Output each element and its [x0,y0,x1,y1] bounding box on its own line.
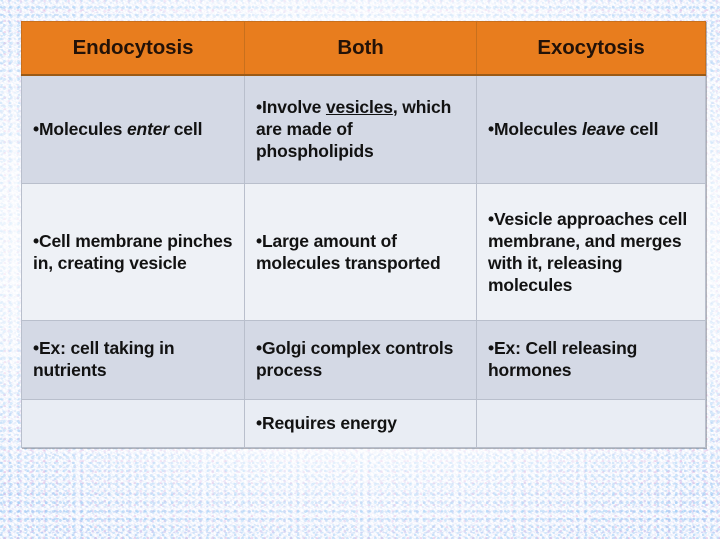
cell-endocytosis-2: •Cell membrane pinches in, creating vesi… [22,183,245,320]
column-header-endocytosis: Endocytosis [22,22,245,76]
cell-text-run: cell [625,119,658,139]
comparison-table-container: Endocytosis Both Exocytosis •Molecules e… [21,21,705,448]
cell-endocytosis-1: •Molecules enter cell [22,75,245,183]
cell-text-run: Requires energy [262,413,397,433]
cell-endocytosis-3: •Ex: cell taking in nutrients [22,321,245,399]
cell-exocytosis-1: •Molecules leave cell [477,75,706,183]
table-row: •Ex: cell taking in nutrients •Golgi com… [22,321,706,399]
cell-text-run: Large amount of molecules transported [256,231,441,273]
cell-endocytosis-4 [22,399,245,448]
table-body: •Molecules enter cell •Involve vesicles,… [22,75,706,448]
cell-text-run: Molecules [39,119,127,139]
cell-text-run: Molecules [494,119,582,139]
cell-text-run: Vesicle approaches cell membrane, and me… [488,209,687,295]
cell-exocytosis-3: •Ex: Cell releasing hormones [477,321,706,399]
cell-text-run: Cell membrane pinches in, creating vesic… [33,231,232,273]
cell-exocytosis-4 [477,399,706,448]
cell-both-1: •Involve vesicles, which are made of pho… [245,75,477,183]
table-row: •Requires energy [22,399,706,448]
table-header: Endocytosis Both Exocytosis [22,22,706,76]
cell-exocytosis-2: •Vesicle approaches cell membrane, and m… [477,183,706,320]
endocytosis-exocytosis-comparison-table: Endocytosis Both Exocytosis •Molecules e… [21,21,706,448]
cell-text-run: cell [169,119,202,139]
column-header-both: Both [245,22,477,76]
table-row: •Cell membrane pinches in, creating vesi… [22,183,706,320]
cell-text-run: enter [127,119,169,139]
cell-text-run: Involve [262,97,326,117]
cell-both-4: •Requires energy [245,399,477,448]
cell-text-run: Ex: Cell releasing hormones [488,338,637,380]
table-row: •Molecules enter cell •Involve vesicles,… [22,75,706,183]
table-header-row: Endocytosis Both Exocytosis [22,22,706,76]
cell-text-run: vesicles [326,97,393,117]
cell-text-run: Golgi complex controls process [256,338,453,380]
cell-text-run: Ex: cell taking in nutrients [33,338,174,380]
cell-both-3: •Golgi complex controls process [245,321,477,399]
cell-both-2: •Large amount of molecules transported [245,183,477,320]
column-header-exocytosis: Exocytosis [477,22,706,76]
cell-text-run: leave [582,119,625,139]
